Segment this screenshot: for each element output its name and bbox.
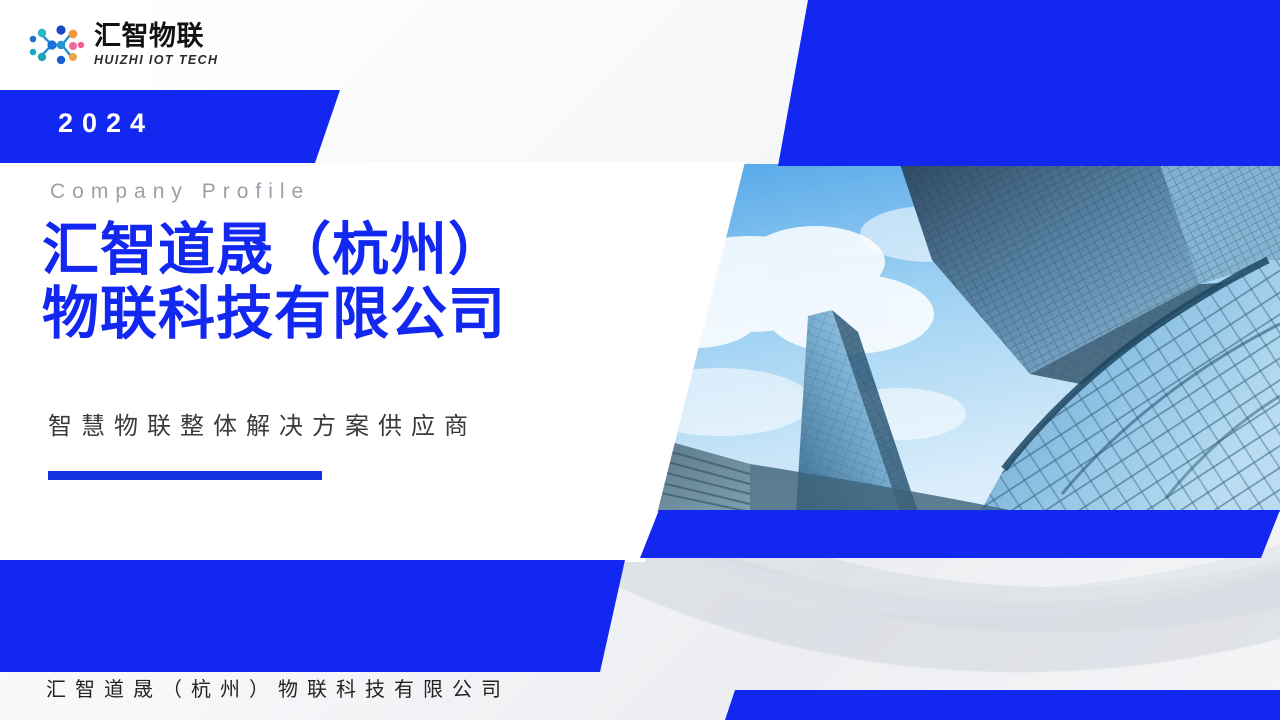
page-title-line-2: 物联科技有限公司 bbox=[42, 282, 506, 346]
title-underline-rule bbox=[48, 471, 322, 480]
page-title: 汇智道晟（杭州） 物联科技有限公司 bbox=[42, 218, 506, 347]
brand-logo[interactable]: 汇智物联 HUIZHI IOT TECH bbox=[28, 22, 218, 68]
shape-top-right-block bbox=[778, 0, 1280, 166]
shape-bottom-right-band bbox=[725, 690, 1280, 720]
logo-chinese-name: 汇智物联 bbox=[94, 23, 218, 50]
shape-photo-underline-strip bbox=[640, 510, 1280, 558]
page-title-line-1: 汇智道晟（杭州） bbox=[42, 218, 506, 282]
molecule-network-icon bbox=[28, 22, 86, 68]
slide-cover: 汇智物联 HUIZHI IOT TECH 2024 Company Profil… bbox=[0, 0, 1280, 720]
shape-year-band bbox=[0, 90, 340, 163]
shape-bottom-left-band bbox=[0, 560, 625, 672]
cover-year: 2024 bbox=[58, 108, 154, 139]
cover-eyebrow: Company Profile bbox=[50, 180, 310, 204]
cover-subtitle: 智慧物联整体解决方案供应商 bbox=[48, 406, 477, 441]
logo-english-name: HUIZHI IOT TECH bbox=[94, 54, 218, 67]
footer-company-name: 汇智道晟（杭州）物联科技有限公司 bbox=[46, 673, 510, 702]
